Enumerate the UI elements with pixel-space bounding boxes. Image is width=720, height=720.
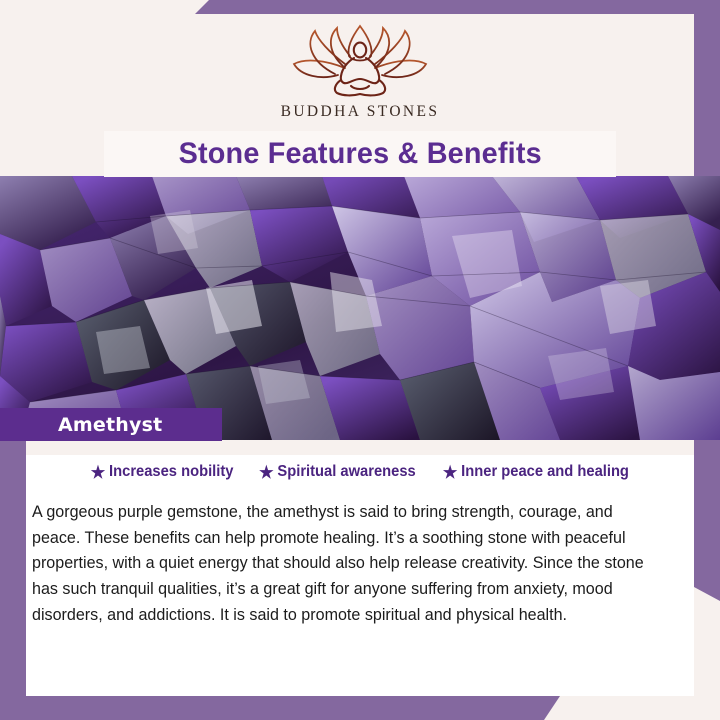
feature-item: ★ Spiritual awareness (259, 463, 416, 481)
feature-list: ★ Increases nobility ★ Spiritual awarene… (26, 463, 694, 481)
star-icon: ★ (259, 464, 273, 481)
star-icon: ★ (90, 464, 104, 481)
feature-item: ★ Increases nobility (90, 463, 233, 481)
brand-name: BUDDHA STONES (281, 103, 440, 121)
amethyst-crystal-cluster-graphic (0, 176, 720, 440)
header: BUDDHA STONES Stone Features & Benefits (26, 14, 694, 176)
content-top-strip (26, 441, 694, 455)
brand-logo: BUDDHA STONES (26, 24, 694, 121)
frame-accent-top-right (195, 0, 720, 14)
star-icon: ★ (443, 464, 457, 481)
feature-label: Increases nobility (109, 463, 233, 481)
page-title: Stone Features & Benefits (178, 137, 541, 171)
feature-label: Inner peace and healing (461, 463, 629, 481)
amethyst-photo (0, 176, 720, 440)
feature-label: Spiritual awareness (277, 463, 415, 481)
page-title-band: Stone Features & Benefits (104, 131, 616, 177)
stone-name-banner: Amethyst (0, 408, 222, 441)
stone-name: Amethyst (58, 414, 162, 436)
frame-accent-bottom (0, 696, 560, 720)
poster-root: BUDDHA STONES Stone Features & Benefits (0, 0, 720, 720)
content-panel: ★ Increases nobility ★ Spiritual awarene… (26, 441, 694, 696)
lotus-meditation-icon (285, 24, 435, 98)
feature-item: ★ Inner peace and healing (443, 463, 629, 481)
stone-description: A gorgeous purple gemstone, the amethyst… (32, 499, 664, 628)
